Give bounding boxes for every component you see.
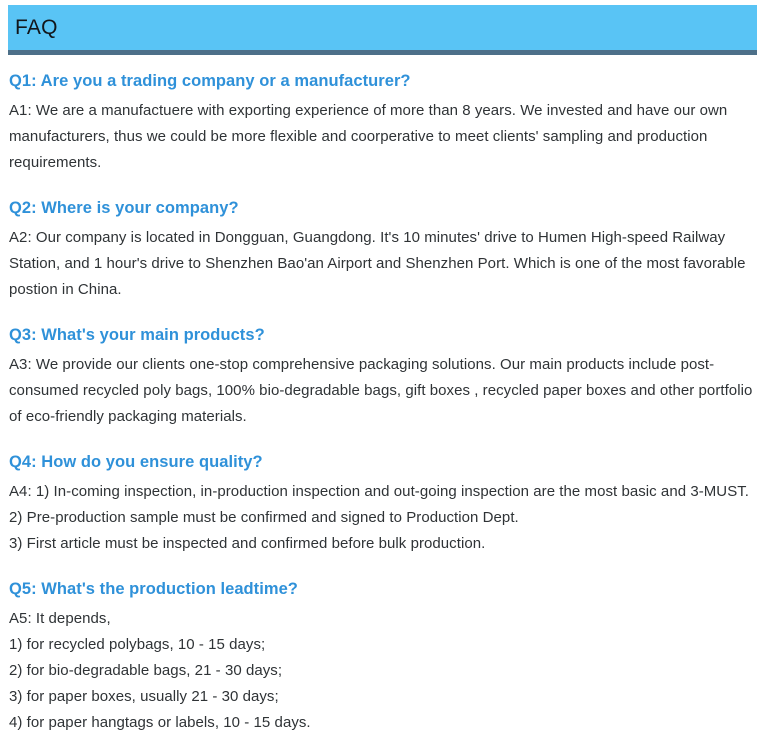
faq-answer-line: 2) for bio-degradable bags, 21 - 30 days… (9, 658, 754, 684)
faq-answer: A4: 1) In-coming inspection, in-producti… (9, 479, 754, 557)
faq-item: Q1: Are you a trading company or a manuf… (9, 70, 754, 176)
faq-question: Q3: What's your main products? (9, 324, 754, 348)
faq-answer-line: A5: It depends, (9, 606, 754, 632)
faq-answer-line: 4) for paper hangtags or labels, 10 - 15… (9, 710, 754, 736)
faq-item: Q3: What's your main products? A3: We pr… (9, 324, 754, 430)
faq-banner: FAQ (8, 5, 757, 55)
faq-answer: A3: We provide our clients one-stop comp… (9, 352, 754, 430)
faq-answer: A1: We are a manufactuere with exporting… (9, 98, 754, 176)
faq-answer-line: 3) First article must be inspected and c… (9, 531, 754, 557)
faq-question: Q2: Where is your company? (9, 197, 754, 221)
faq-question: Q4: How do you ensure quality? (9, 451, 754, 475)
faq-answer-line: 1) for recycled polybags, 10 - 15 days; (9, 632, 754, 658)
faq-answer-line: 2) Pre-production sample must be confirm… (9, 505, 754, 531)
faq-answer: A2: Our company is located in Dongguan, … (9, 225, 754, 303)
faq-item: Q2: Where is your company? A2: Our compa… (9, 197, 754, 303)
faq-item: Q5: What's the production leadtime? A5: … (9, 578, 754, 736)
faq-question: Q5: What's the production leadtime? (9, 578, 754, 602)
faq-answer-line: A4: 1) In-coming inspection, in-producti… (9, 479, 754, 505)
faq-question: Q1: Are you a trading company or a manuf… (9, 70, 754, 94)
faq-list: Q1: Are you a trading company or a manuf… (9, 70, 754, 736)
faq-page: FAQ Q1: Are you a trading company or a m… (0, 0, 765, 748)
faq-item: Q4: How do you ensure quality? A4: 1) In… (9, 451, 754, 557)
faq-answer: A5: It depends, 1) for recycled polybags… (9, 606, 754, 736)
faq-answer-line: 3) for paper boxes, usually 21 - 30 days… (9, 684, 754, 710)
faq-banner-title: FAQ (8, 17, 58, 38)
